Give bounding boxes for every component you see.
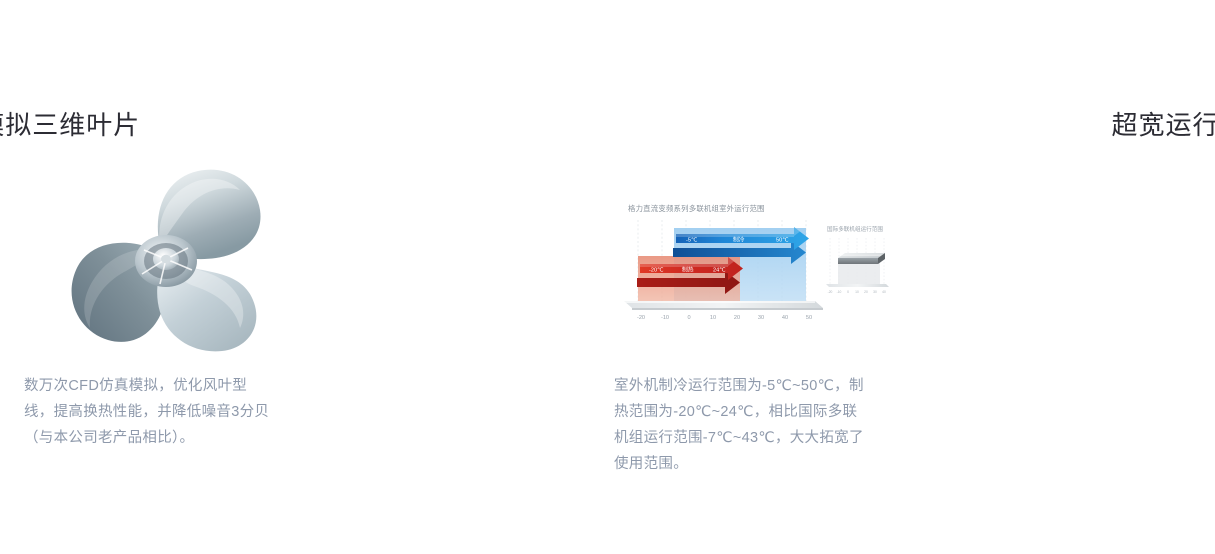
svg-text:50: 50 — [806, 315, 812, 321]
heating-series-label: 制热 — [682, 266, 694, 274]
svg-text:0: 0 — [687, 315, 690, 321]
heating-end-label: 24℃ — [713, 267, 726, 274]
svg-text:0: 0 — [847, 290, 849, 294]
cooling-end-label: 50℃ — [776, 237, 789, 244]
svg-text:20: 20 — [734, 315, 740, 321]
svg-text:10: 10 — [710, 315, 716, 321]
chart-title: 格力直流变频系列多联机组室外运行范围 — [628, 204, 765, 213]
feature-description-cfd-blade: 数万次CFD仿真模拟，优化风叶型 线，提高换热性能，并降低噪音3分贝 （与本公司… — [24, 373, 324, 451]
page-title-operating-range: 超宽运行范围 — [885, 108, 1215, 142]
operating-range-chart-image: 格力直流变频系列多联机组室外运行范围 — [610, 196, 900, 331]
cooling-series-label: 制冷 — [733, 236, 745, 244]
svg-text:40: 40 — [882, 290, 886, 294]
chart-base-platform — [624, 301, 823, 310]
svg-text:30: 30 — [873, 290, 877, 294]
heating-start-label: -20℃ — [649, 267, 663, 274]
svg-text:30: 30 — [758, 315, 764, 321]
svg-text:-10: -10 — [661, 315, 669, 321]
svg-text:40: 40 — [782, 315, 788, 321]
chart-inset-international-range: 国际多联机组运行范围 — [826, 225, 889, 294]
chart-inset-axis-labels: -20 -10 0 10 20 30 40 — [828, 290, 886, 294]
svg-text:-20: -20 — [637, 315, 645, 321]
feature-description-operating-range: 室外机制冷运行范围为-5℃~50℃，制 热范围为-20℃~24℃，相比国际多联 … — [614, 373, 914, 477]
svg-text:-20: -20 — [828, 290, 833, 294]
cooling-start-label: -5℃ — [686, 237, 697, 244]
chart-axis-labels: -20 -10 0 10 20 30 40 50 — [637, 315, 812, 321]
svg-text:20: 20 — [864, 290, 868, 294]
feature-showcase-page: CFD仿真模拟三维叶片 — [0, 0, 1215, 554]
chart-inset-title: 国际多联机组运行范围 — [827, 225, 883, 233]
svg-text:10: 10 — [855, 290, 859, 294]
page-title-cfd-blade: CFD仿真模拟三维叶片 — [0, 108, 304, 142]
feature-column-operating-range: 超宽运行范围 — [600, 0, 1215, 554]
feature-column-cfd-blade: CFD仿真模拟三维叶片 — [0, 0, 600, 554]
svg-text:-10: -10 — [837, 290, 842, 294]
three-dimensional-fan-blade-photo — [48, 158, 288, 356]
